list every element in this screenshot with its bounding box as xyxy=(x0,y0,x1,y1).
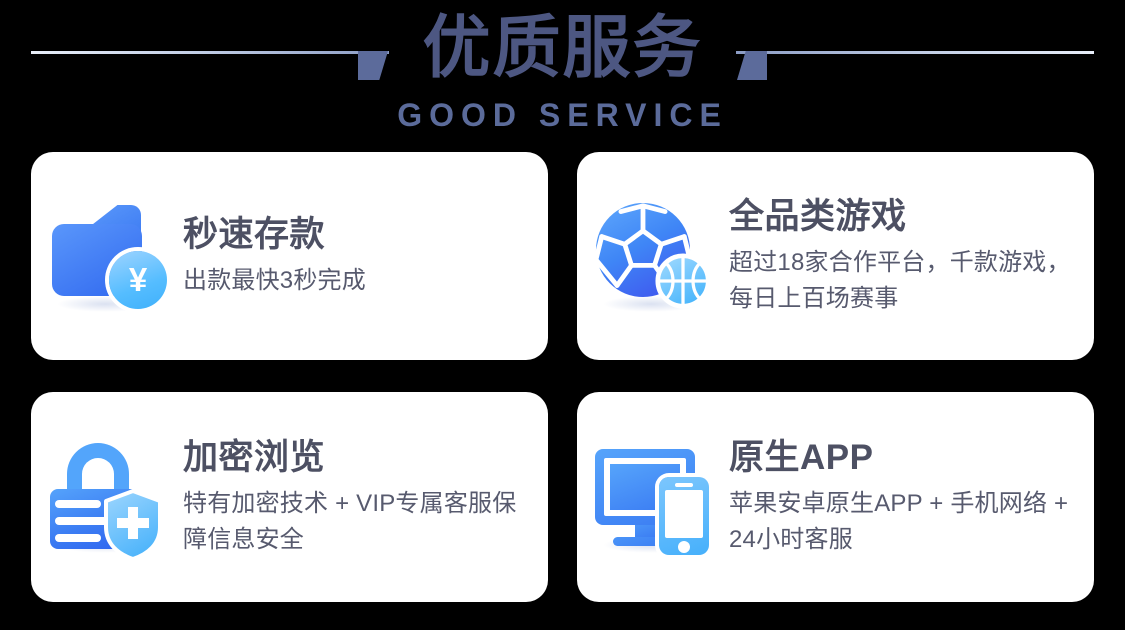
card-description: 出款最快3秒完成 xyxy=(183,263,532,299)
feature-card-native-app[interactable]: 原生APP 苹果安卓原生APP + 手机网络 + 24小时客服 xyxy=(577,392,1094,602)
monitor-phone-icon xyxy=(593,437,713,557)
card-title: 全品类游戏 xyxy=(729,195,1078,239)
shield-plus-icon xyxy=(102,489,164,561)
lock-slot-icon xyxy=(55,500,101,508)
lock-slot-icon xyxy=(55,534,101,542)
feature-card-grid: ¥ 秒速存款 出款最快3秒完成 xyxy=(31,152,1094,602)
card-text-block: 秒速存款 出款最快3秒完成 xyxy=(183,213,548,299)
card-text-block: 原生APP 苹果安卓原生APP + 手机网络 + 24小时客服 xyxy=(729,436,1094,558)
card-icon-slot: ¥ xyxy=(31,152,183,360)
feature-card-encryption[interactable]: 加密浏览 特有加密技术 + VIP专属客服保障信息安全 xyxy=(31,392,548,602)
card-title: 加密浏览 xyxy=(183,436,532,480)
basketball-icon xyxy=(655,253,711,309)
yen-symbol: ¥ xyxy=(129,263,147,296)
card-title: 秒速存款 xyxy=(183,213,532,257)
page-subtitle: GOOD SERVICE xyxy=(0,96,1125,134)
card-icon-slot xyxy=(31,392,183,602)
phone-home-button-icon xyxy=(678,541,690,553)
card-icon-slot xyxy=(577,392,729,602)
card-description: 苹果安卓原生APP + 手机网络 + 24小时客服 xyxy=(729,486,1078,558)
card-description: 特有加密技术 + VIP专属客服保障信息安全 xyxy=(183,486,532,558)
phone-screen-icon xyxy=(665,490,703,538)
card-text-block: 加密浏览 特有加密技术 + VIP专属客服保障信息安全 xyxy=(183,436,548,558)
page-title: 优质服务 xyxy=(0,8,1125,88)
card-title: 原生APP xyxy=(729,436,1078,480)
yen-coin-icon: ¥ xyxy=(109,251,167,309)
phone-speaker-icon xyxy=(675,483,693,487)
card-text-block: 全品类游戏 超过18家合作平台，千款游戏，每日上百场赛事 xyxy=(729,195,1094,317)
soccer-basketball-icon xyxy=(593,196,713,316)
feature-card-deposit[interactable]: ¥ 秒速存款 出款最快3秒完成 xyxy=(31,152,548,360)
page-header: 优质服务 GOOD SERVICE xyxy=(0,0,1125,145)
feature-card-games[interactable]: 全品类游戏 超过18家合作平台，千款游戏，每日上百场赛事 xyxy=(577,152,1094,360)
card-icon-slot xyxy=(577,152,729,360)
card-description: 超过18家合作平台，千款游戏，每日上百场赛事 xyxy=(729,245,1078,317)
lock-shield-icon xyxy=(47,437,167,557)
wallet-yen-icon: ¥ xyxy=(47,196,167,316)
